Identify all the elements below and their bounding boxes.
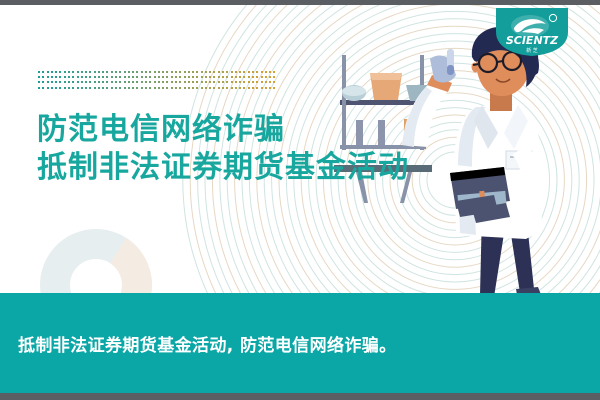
dot-grid-cell	[209, 76, 211, 78]
dot-grid-cell	[231, 81, 233, 83]
dot-grid-cell	[81, 87, 83, 89]
dot-grid-cell	[38, 76, 40, 78]
dot-grid-cell	[231, 87, 233, 89]
footer-banner: 抵制非法证券期货基金活动, 防范电信网络诈骗。	[0, 293, 600, 393]
dot-grid-cell	[222, 71, 224, 73]
dot-grid-cell	[42, 76, 44, 78]
dot-grid-cell	[179, 87, 181, 89]
dot-grid-cell	[77, 87, 79, 89]
dot-grid-cell	[239, 71, 241, 73]
dot-grid-cell	[218, 87, 220, 89]
dot-grid-cell	[111, 81, 113, 83]
dot-grid-cell	[162, 81, 164, 83]
dot-grid-cell	[132, 76, 134, 78]
dot-grid-cell	[85, 71, 87, 73]
dot-grid-cell	[111, 87, 113, 89]
dot-grid-cell	[68, 76, 70, 78]
dot-grid-cell	[81, 71, 83, 73]
dot-grid-cell	[124, 76, 126, 78]
dot-grid-cell	[136, 71, 138, 73]
dot-grid-cell	[141, 81, 143, 83]
dot-grid-cell	[98, 71, 100, 73]
dot-grid-cell	[196, 71, 198, 73]
dot-grid-cell	[231, 71, 233, 73]
dot-grid-cell	[196, 81, 198, 83]
dot-grid-cell	[235, 71, 237, 73]
dot-grid-cell	[205, 71, 207, 73]
dot-grid-cell	[209, 87, 211, 89]
dot-grid-cell	[55, 81, 57, 83]
dot-grid-cell	[42, 71, 44, 73]
dot-grid-cell	[64, 71, 66, 73]
dot-grid-cell	[158, 76, 160, 78]
dot-grid-cell	[128, 87, 130, 89]
dot-grid-cell	[201, 87, 203, 89]
dot-grid-cell	[218, 81, 220, 83]
dot-grid-cell	[171, 87, 173, 89]
dot-grid-cell	[213, 76, 215, 78]
dot-grid-cell	[235, 87, 237, 89]
dot-grid-cell	[51, 87, 53, 89]
dot-grid-cell	[235, 81, 237, 83]
scientist-body	[450, 103, 543, 305]
dot-grid-cell	[149, 87, 151, 89]
dot-grid-cell	[222, 76, 224, 78]
dot-grid-cell	[273, 87, 275, 89]
dot-grid-cell	[124, 87, 126, 89]
dot-grid-cell	[149, 81, 151, 83]
bottom-chrome-bar	[0, 393, 600, 400]
dot-grid-cell	[89, 71, 91, 73]
dot-grid-cell	[239, 87, 241, 89]
dot-grid-cell	[94, 81, 96, 83]
scientz-logo[interactable]: SCIENTZ 新 芝	[492, 8, 572, 56]
dot-grid-cell	[42, 81, 44, 83]
dot-grid-cell	[162, 87, 164, 89]
dot-grid-cell	[265, 71, 267, 73]
dot-grid-cell	[171, 71, 173, 73]
dot-grid-cell	[124, 71, 126, 73]
dot-grid-cell	[261, 81, 263, 83]
dot-grid-cell	[98, 87, 100, 89]
dot-grid-cell	[136, 81, 138, 83]
dot-grid-cell	[269, 81, 271, 83]
dot-grid-cell	[261, 71, 263, 73]
dot-grid-cell	[184, 76, 186, 78]
dot-grid-cell	[94, 71, 96, 73]
dot-grid-cell	[248, 71, 250, 73]
dot-grid-cell	[59, 81, 61, 83]
dot-grid-cell	[265, 87, 267, 89]
dot-grid-cell	[94, 76, 96, 78]
dot-grid-cell	[51, 76, 53, 78]
dot-grid-cell	[196, 87, 198, 89]
dot-grid-cell	[252, 76, 254, 78]
dot-grid-cell	[175, 87, 177, 89]
dot-grid-cell	[205, 81, 207, 83]
dot-grid-cell	[42, 87, 44, 89]
dot-grid-cell	[141, 76, 143, 78]
dot-grid-cell	[119, 87, 121, 89]
dot-grid-cell	[171, 76, 173, 78]
dot-grid-cell	[243, 87, 245, 89]
dot-grid-cell	[175, 81, 177, 83]
dot-grid-cell	[269, 87, 271, 89]
dot-grid-cell	[226, 81, 228, 83]
dot-grid-cell	[222, 87, 224, 89]
dot-grid-cell	[115, 71, 117, 73]
dot-grid-cell	[184, 71, 186, 73]
dot-grid-cell	[265, 76, 267, 78]
dot-grid-cell	[158, 71, 160, 73]
dot-grid-cell	[192, 76, 194, 78]
dot-grid-cell	[47, 71, 49, 73]
dot-grid-cell	[235, 76, 237, 78]
logo-sub-text: 新 芝	[526, 47, 538, 54]
dot-grid-cell	[124, 81, 126, 83]
dot-grid-cell	[141, 87, 143, 89]
dot-grid-cell	[72, 81, 74, 83]
dot-grid-cell	[265, 81, 267, 83]
dot-grid-cell	[85, 76, 87, 78]
dot-grid-cell	[72, 87, 74, 89]
dot-grid-cell	[102, 71, 104, 73]
headline-block: 防范电信网络诈骗 抵制非法证券期货基金活动	[37, 111, 409, 187]
dot-grid-cell	[136, 87, 138, 89]
dot-grid-cell	[192, 81, 194, 83]
dot-grid-cell	[256, 76, 258, 78]
dot-grid-cell	[119, 81, 121, 83]
dot-grid-cell	[55, 87, 57, 89]
dot-grid-cell	[106, 76, 108, 78]
dot-grid-cell	[89, 87, 91, 89]
dot-grid-cell	[231, 76, 233, 78]
headline-line-1: 防范电信网络诈骗	[37, 111, 409, 149]
dot-grid-cell	[59, 71, 61, 73]
dot-grid-cell	[51, 71, 53, 73]
dot-grid-cell	[256, 81, 258, 83]
dot-grid-cell	[162, 71, 164, 73]
dot-grid-cell	[162, 76, 164, 78]
dot-grid-cell	[213, 71, 215, 73]
dot-grid-cell	[201, 76, 203, 78]
dot-grid-cell	[72, 76, 74, 78]
dot-grid-cell	[102, 87, 104, 89]
dot-grid-cell	[94, 87, 96, 89]
dot-grid-cell	[98, 81, 100, 83]
dot-grid-cell	[239, 76, 241, 78]
dot-grid-cell	[166, 87, 168, 89]
dot-grid-cell	[243, 76, 245, 78]
dot-grid-cell	[226, 87, 228, 89]
dot-grid-cell	[188, 76, 190, 78]
dot-grid-cell	[102, 76, 104, 78]
dot-grid-cell	[248, 81, 250, 83]
dot-grid-cell	[64, 76, 66, 78]
dot-grid-cell	[188, 87, 190, 89]
dot-grid-cell	[256, 71, 258, 73]
dot-grid-cell	[222, 81, 224, 83]
dot-grid-cell	[252, 81, 254, 83]
dot-grid-cell	[132, 87, 134, 89]
dot-grid-cell	[158, 81, 160, 83]
dot-grid-cell	[243, 71, 245, 73]
dot-grid-cell	[77, 81, 79, 83]
dot-grid-cell	[141, 71, 143, 73]
dot-grid-cell	[51, 81, 53, 83]
dot-grid-cell	[106, 81, 108, 83]
dot-grid-cell	[269, 76, 271, 78]
dot-grid-cell	[89, 76, 91, 78]
dot-grid-cell	[132, 71, 134, 73]
dot-grid-cell	[154, 87, 156, 89]
dot-grid-cell	[59, 87, 61, 89]
dot-grid-cell	[179, 81, 181, 83]
dot-grid-cell	[38, 71, 40, 73]
dot-grid-cell	[226, 71, 228, 73]
dot-grid-cell	[111, 76, 113, 78]
dot-grid-cell	[68, 87, 70, 89]
dot-grid-cell	[273, 76, 275, 78]
dot-grid-cell	[188, 81, 190, 83]
dot-grid-cell	[256, 87, 258, 89]
dot-grid-cell	[132, 81, 134, 83]
dot-grid-cell	[38, 81, 40, 83]
dot-grid-cell	[226, 76, 228, 78]
dot-grid-cell	[149, 71, 151, 73]
dot-grid-cell	[72, 71, 74, 73]
dot-grid-cell	[55, 76, 57, 78]
dot-grid-cell	[77, 76, 79, 78]
dot-grid-cell	[205, 87, 207, 89]
dot-grid-cell	[166, 76, 168, 78]
dot-grid-cell	[154, 71, 156, 73]
dot-grid-cell	[102, 81, 104, 83]
dot-grid-cell	[149, 76, 151, 78]
dot-grid-cell	[158, 87, 160, 89]
dot-grid-cell	[192, 87, 194, 89]
dot-grid-cell	[273, 81, 275, 83]
dot-grid-cell	[47, 87, 49, 89]
dot-grid-cell	[269, 71, 271, 73]
dot-grid-cell	[179, 71, 181, 73]
dot-grid-cell	[77, 71, 79, 73]
dot-grid-cell	[201, 81, 203, 83]
dot-grid-cell	[218, 71, 220, 73]
dot-grid-cell	[55, 71, 57, 73]
dot-grid-cell	[252, 87, 254, 89]
dot-grid-cell	[81, 81, 83, 83]
dot-grid-cell	[213, 81, 215, 83]
promotional-poster: 防范电信网络诈骗 抵制非法证券期货基金活动	[0, 0, 600, 400]
dot-grid-cell	[188, 71, 190, 73]
dot-grid-cell	[166, 81, 168, 83]
dot-grid-cell	[128, 76, 130, 78]
dot-grid-cell	[261, 76, 263, 78]
logo-brand-text: SCIENTZ	[506, 34, 559, 47]
dot-grid-cell	[68, 71, 70, 73]
dot-grid-cell	[209, 71, 211, 73]
dot-grid-cell	[154, 81, 156, 83]
dot-grid-cell	[89, 81, 91, 83]
dot-grid-cell	[184, 81, 186, 83]
footer-banner-text: 抵制非法证券期货基金活动, 防范电信网络诈骗。	[18, 331, 397, 356]
dot-grid-cell	[201, 71, 203, 73]
dot-grid-cell	[248, 87, 250, 89]
headline-line-2: 抵制非法证券期货基金活动	[37, 149, 409, 187]
dot-grid-cell	[273, 71, 275, 73]
dot-grid-cell	[166, 71, 168, 73]
dot-grid-cell	[145, 87, 147, 89]
dot-grid-cell	[243, 81, 245, 83]
dot-grid-cell	[136, 76, 138, 78]
dot-grid-cell	[81, 76, 83, 78]
dot-grid-cell	[47, 81, 49, 83]
dot-grid-cell	[106, 71, 108, 73]
dot-grid-cell	[252, 71, 254, 73]
dot-grid-cell	[213, 87, 215, 89]
dot-grid-cell	[179, 76, 181, 78]
dot-grid-cell	[64, 81, 66, 83]
dot-grid-cell	[145, 71, 147, 73]
dot-grid-cell	[85, 81, 87, 83]
dot-grid-cell	[205, 76, 207, 78]
dot-grid-cell	[85, 87, 87, 89]
dot-grid-cell	[119, 71, 121, 73]
dot-grid-cell	[38, 87, 40, 89]
dot-grid-cell	[128, 81, 130, 83]
dot-grid-cell	[192, 71, 194, 73]
dot-grid-cell	[154, 76, 156, 78]
dot-grid-cell	[239, 81, 241, 83]
dot-grid-cell	[248, 76, 250, 78]
dot-grid-cell	[119, 76, 121, 78]
dot-grid-cell	[98, 76, 100, 78]
dot-grid-cell	[171, 81, 173, 83]
dot-grid-cell	[209, 81, 211, 83]
dot-grid-cell	[218, 76, 220, 78]
dot-grid-cell	[68, 81, 70, 83]
dot-grid-cell	[106, 87, 108, 89]
dot-grid-cell	[64, 87, 66, 89]
dot-grid-cell	[196, 76, 198, 78]
dot-grid-cell	[47, 76, 49, 78]
dot-grid-decoration	[38, 71, 276, 93]
dot-grid-cell	[115, 76, 117, 78]
dot-grid-cell	[261, 87, 263, 89]
dot-grid-cell	[128, 71, 130, 73]
dot-grid-cell	[111, 71, 113, 73]
dot-grid-cell	[184, 87, 186, 89]
dot-grid-cell	[175, 76, 177, 78]
dot-grid-cell	[115, 87, 117, 89]
dot-grid-cell	[115, 81, 117, 83]
dot-grid-cell	[175, 71, 177, 73]
dot-grid-cell	[59, 76, 61, 78]
dot-grid-cell	[145, 81, 147, 83]
dot-grid-cell	[145, 76, 147, 78]
